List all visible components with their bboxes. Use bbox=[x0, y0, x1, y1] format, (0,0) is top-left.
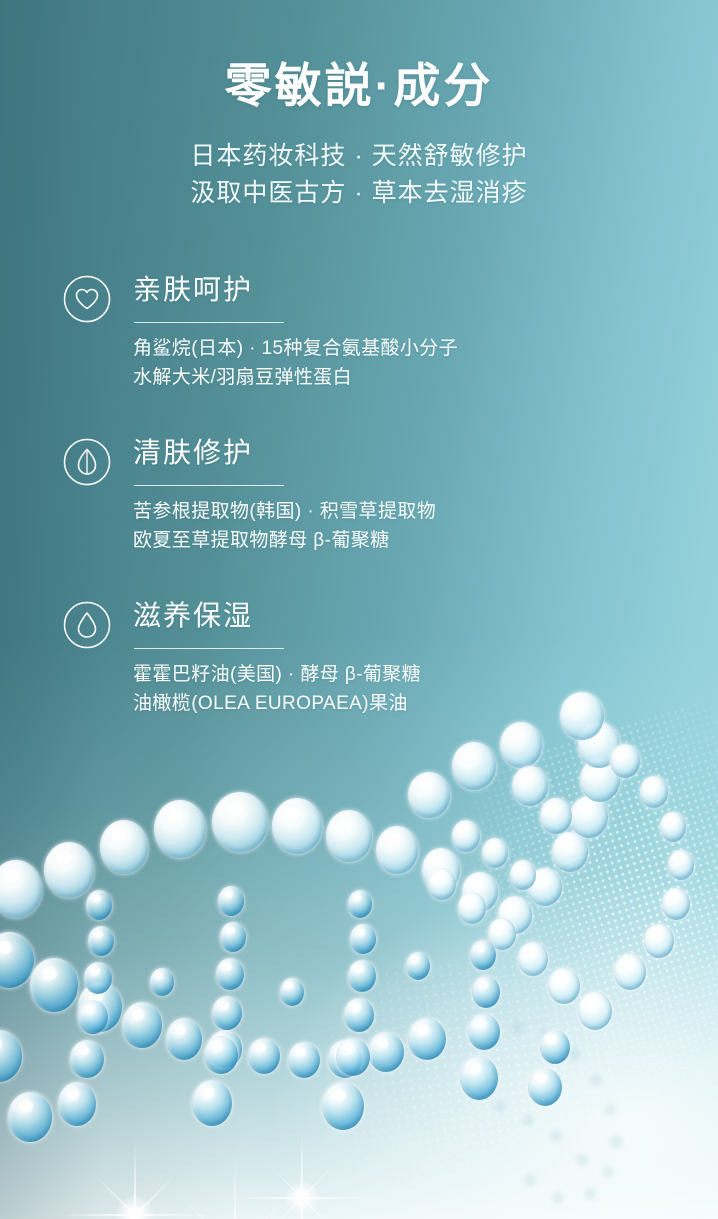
feature-description: 角鲨烷(日本) · 15种复合氨基酸小分子 水解大米/羽扇豆弹性蛋白 bbox=[133, 335, 718, 393]
page-subtitle: 日本药妆科技 · 天然舒敏修护 汲取中医古方 · 草本去湿消疹 bbox=[0, 138, 718, 212]
feature-description: 苦参根提取物(韩国) · 积雪草提取物 欧夏至草提取物酵母 β-葡聚糖 bbox=[133, 498, 718, 556]
ghost-helix-icon bbox=[470, 1010, 718, 1210]
feature-title: 清肤修护 bbox=[133, 435, 718, 470]
water-drop-in-circle-icon bbox=[62, 600, 112, 650]
feature-body: 清肤修护 苦参根提取物(韩国) · 积雪草提取物 欧夏至草提取物酵母 β-葡聚糖 bbox=[62, 435, 718, 556]
subtitle-line-1: 日本药妆科技 · 天然舒敏修护 bbox=[0, 138, 718, 175]
feature-divider bbox=[134, 322, 284, 323]
feature-title: 滋养保湿 bbox=[133, 598, 718, 633]
feature-desc-line-1: 苦参根提取物(韩国) · 积雪草提取物 bbox=[133, 498, 718, 527]
feature-desc-line-2: 欧夏至草提取物酵母 β-葡聚糖 bbox=[133, 527, 718, 556]
feature-desc-line-1: 角鲨烷(日本) · 15种复合氨基酸小分子 bbox=[133, 335, 718, 364]
feature-list: 亲肤呵护 角鲨烷(日本) · 15种复合氨基酸小分子 水解大米/羽扇豆弹性蛋白 … bbox=[0, 272, 718, 718]
promo-page: 零敏説·成分 日本药妆科技 · 天然舒敏修护 汲取中医古方 · 草本去湿消疹 亲… bbox=[0, 0, 718, 1219]
leaf-in-circle-icon bbox=[62, 437, 112, 487]
subtitle-line-2: 汲取中医古方 · 草本去湿消疹 bbox=[0, 175, 718, 212]
feature-body: 亲肤呵护 角鲨烷(日本) · 15种复合氨基酸小分子 水解大米/羽扇豆弹性蛋白 bbox=[62, 272, 718, 393]
feature-title: 亲肤呵护 bbox=[133, 272, 718, 307]
feature-divider bbox=[134, 648, 284, 649]
feature-item-skin-care: 亲肤呵护 角鲨烷(日本) · 15种复合氨基酸小分子 水解大米/羽扇豆弹性蛋白 bbox=[62, 272, 718, 393]
feature-description: 霍霍巴籽油(美国) · 酵母 β-葡聚糖 油橄榄(OLEA EUROPAEA)果… bbox=[133, 661, 718, 719]
feature-item-skin-repair: 清肤修护 苦参根提取物(韩国) · 积雪草提取物 欧夏至草提取物酵母 β-葡聚糖 bbox=[62, 435, 718, 556]
feature-desc-line-1: 霍霍巴籽油(美国) · 酵母 β-葡聚糖 bbox=[133, 661, 718, 690]
page-header: 零敏説·成分 日本药妆科技 · 天然舒敏修护 汲取中医古方 · 草本去湿消疹 bbox=[0, 0, 718, 212]
feature-desc-line-2: 油橄榄(OLEA EUROPAEA)果油 bbox=[133, 690, 718, 719]
page-title: 零敏説·成分 bbox=[0, 58, 718, 113]
feature-divider bbox=[134, 485, 284, 486]
feature-body: 滋养保湿 霍霍巴籽油(美国) · 酵母 β-葡聚糖 油橄榄(OLEA EUROP… bbox=[62, 598, 718, 719]
feature-item-moisturizing: 滋养保湿 霍霍巴籽油(美国) · 酵母 β-葡聚糖 油橄榄(OLEA EUROP… bbox=[62, 598, 718, 719]
feature-desc-line-2: 水解大米/羽扇豆弹性蛋白 bbox=[133, 364, 718, 393]
heart-in-circle-icon bbox=[62, 274, 112, 324]
lens-flare-icon bbox=[60, 1140, 210, 1219]
